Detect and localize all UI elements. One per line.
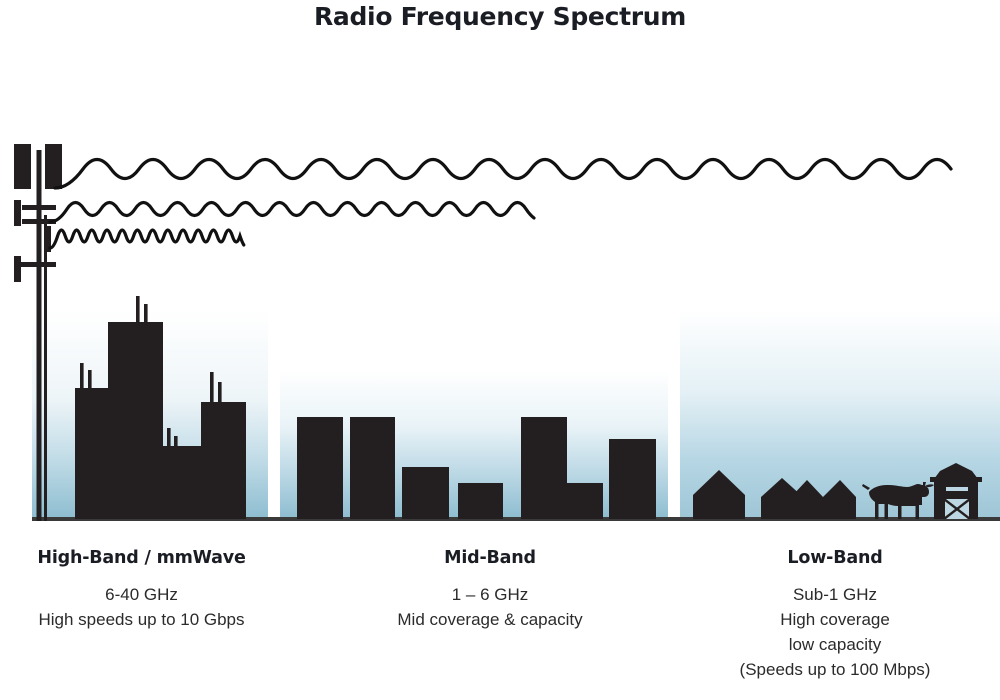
building-icon [297,417,343,519]
building-icon [521,417,567,519]
medium-wave-icon [50,203,534,223]
band-detail-low-1: High coverage [670,607,1000,632]
caption-high-band: High-Band / mmWave 6-40 GHz High speeds … [0,548,283,632]
band-detail-high-1: High speeds up to 10 Gbps [0,607,283,632]
band-frequency-high: 6-40 GHz [0,582,283,607]
band-name-low: Low-Band [670,548,1000,568]
band-detail-low-3: (Speeds up to 100 Mbps) [670,657,1000,682]
building-icon [350,417,395,519]
building-icon [609,439,656,519]
building-icon [458,483,503,519]
building-icon [567,483,603,519]
band-frequency-low: Sub-1 GHz [670,582,1000,607]
caption-mid-band: Mid-Band 1 – 6 GHz Mid coverage & capaci… [330,548,650,632]
band-name-high: High-Band / mmWave [0,548,283,568]
building-icon [402,467,449,519]
band-frequency-mid: 1 – 6 GHz [330,582,650,607]
short-wave-icon [50,230,244,248]
caption-low-band: Low-Band Sub-1 GHz High coverage low cap… [670,548,1000,682]
band-name-mid: Mid-Band [330,548,650,568]
band-detail-mid-1: Mid coverage & capacity [330,607,650,632]
band-detail-low-2: low capacity [670,632,1000,657]
skyscraper-icon [108,296,163,519]
long-wave-icon [55,160,951,189]
radio-waves [50,160,951,249]
infographic-root: Radio Frequency Spectrum [0,0,1000,700]
hayloft-window [946,487,968,491]
